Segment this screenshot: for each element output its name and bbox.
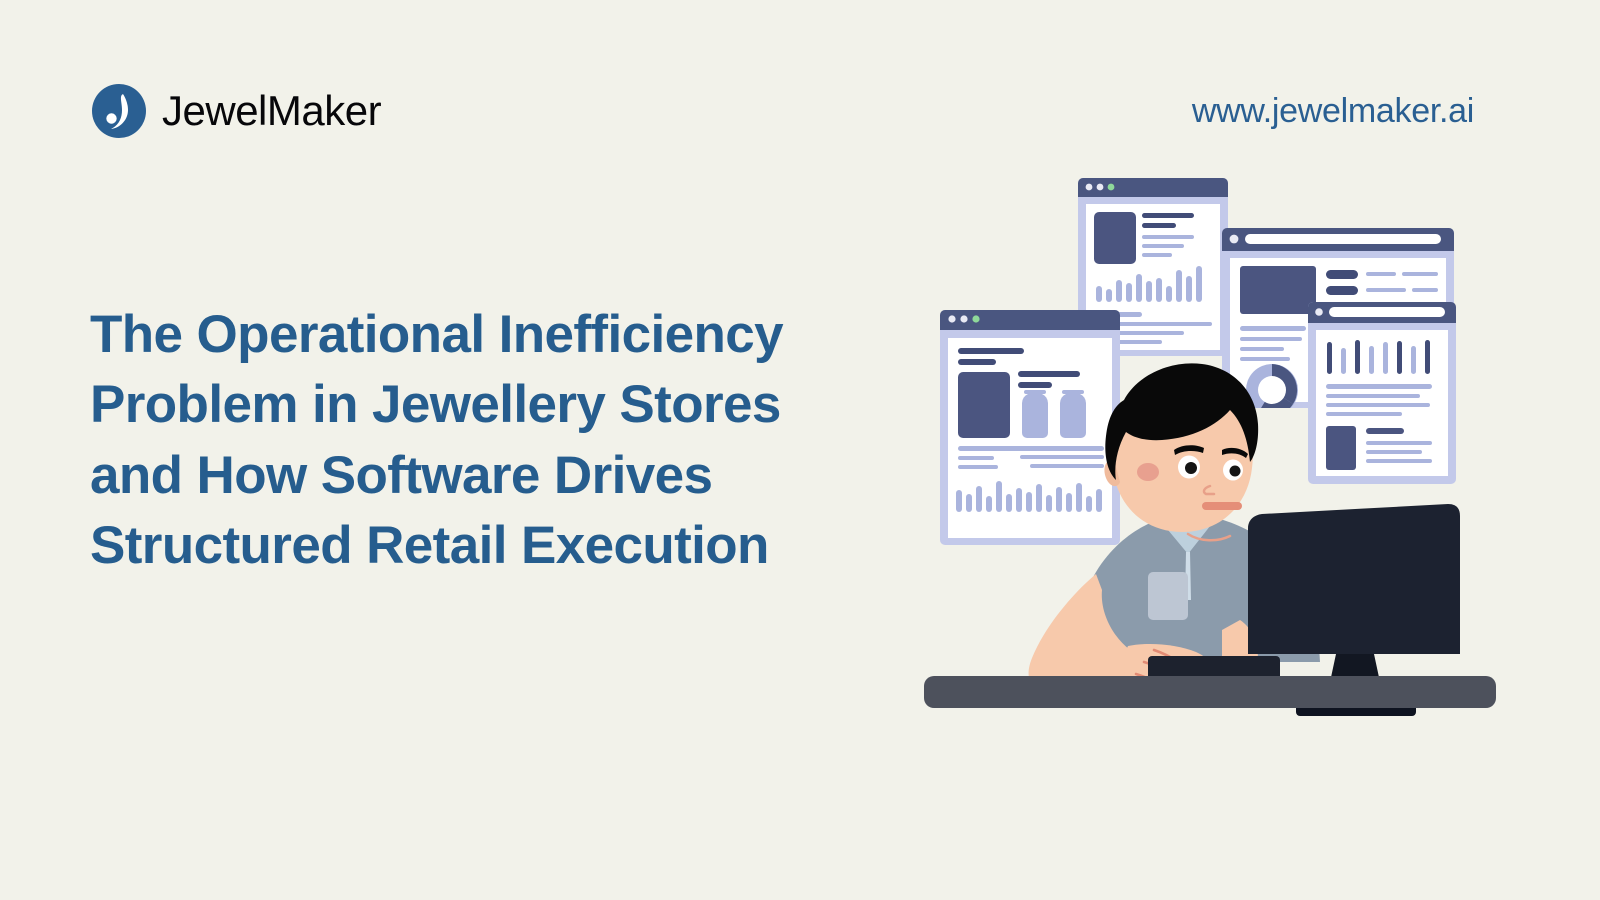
crescent-moon-circle-icon	[92, 84, 146, 138]
window-dot-2	[1097, 184, 1104, 191]
headline-line-2: Problem in Jewellery Stores	[90, 370, 850, 440]
mouth	[1202, 502, 1242, 510]
desk-surface	[924, 676, 1496, 708]
hero-illustration	[900, 150, 1520, 730]
brand-logo-text: JewelMaker	[162, 90, 381, 132]
left-dashboard-window	[940, 310, 1120, 545]
site-url[interactable]: www.jewelmaker.ai	[1192, 92, 1474, 131]
window-dot-1	[1086, 184, 1093, 191]
monitor-screen	[1248, 504, 1460, 654]
blush	[1137, 463, 1159, 481]
headline-line-3: and How Software Drives	[90, 441, 850, 511]
window-dot-single	[1230, 235, 1239, 244]
headline-line-4: Structured Retail Execution	[90, 511, 850, 581]
brand-logo[interactable]: JewelMaker	[92, 84, 381, 138]
page-title: The Operational Inefficiency Problem in …	[90, 300, 850, 582]
address-bar	[1245, 234, 1441, 244]
shirt-pocket	[1148, 572, 1188, 620]
window-dot-3	[1108, 184, 1115, 191]
poster-canvas: JewelMaker www.jewelmaker.ai The Operati…	[0, 0, 1600, 900]
address-bar	[1329, 307, 1445, 317]
front-right-dashboard-window	[1308, 302, 1456, 484]
headline-line-1: The Operational Inefficiency	[90, 300, 850, 370]
